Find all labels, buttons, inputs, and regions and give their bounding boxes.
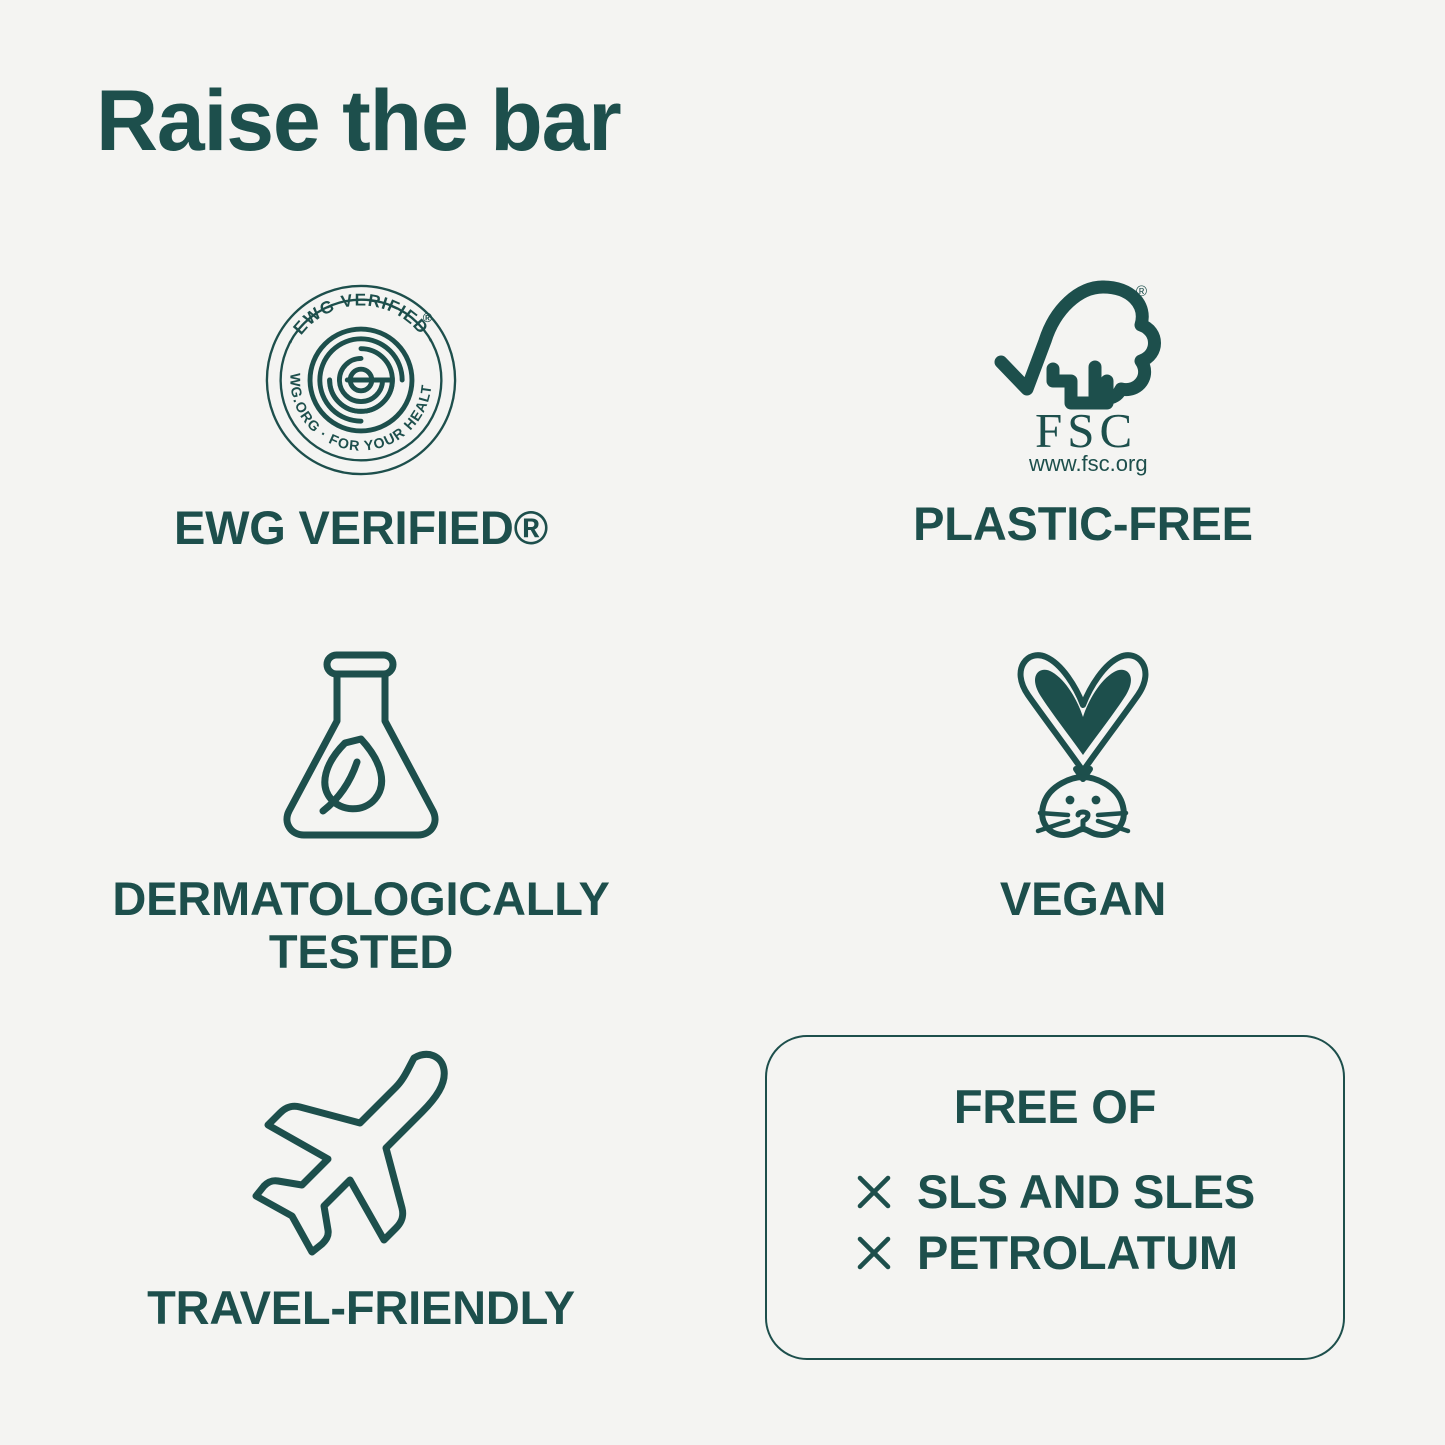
svg-text:®: ® <box>423 310 433 325</box>
flask-with-leaf-icon <box>271 645 451 845</box>
badge-label-travel-friendly: TRAVEL-FRIENDLY <box>147 1282 575 1335</box>
badge-label-dermatologically-tested: DERMATOLOGICALLY TESTED <box>41 873 681 978</box>
cross-icon <box>855 1234 893 1272</box>
free-of-list: SLS AND SLES PETROLATUM <box>855 1168 1255 1276</box>
badge-ewg-verified: · EWG VERIFIED · EWG.ORG · FOR YOUR HEAL… <box>0 250 722 620</box>
badge-plastic-free: ® FSC www.fsc.org PLASTIC-FREE <box>722 250 1444 620</box>
fsc-tree-checkmark-icon: ® FSC www.fsc.org <box>983 268 1183 478</box>
free-of-card: FREE OF SLS AND SLES PETRO <box>765 1035 1345 1360</box>
free-of-title: FREE OF <box>954 1079 1156 1134</box>
free-of-item-label: SLS AND SLES <box>917 1168 1255 1215</box>
ewg-verified-seal-icon: · EWG VERIFIED · EWG.ORG · FOR YOUR HEAL… <box>263 280 459 480</box>
rabbit-heart-ears-icon <box>984 640 1182 845</box>
svg-text:www.fsc.org: www.fsc.org <box>1028 451 1148 476</box>
cross-icon <box>855 1173 893 1211</box>
svg-text:®: ® <box>1136 283 1147 300</box>
infographic-page: Raise the bar · EWG VERIFIED · <box>0 0 1445 1445</box>
page-title: Raise the bar <box>96 78 621 164</box>
list-item: PETROLATUM <box>855 1229 1238 1276</box>
svg-text:FSC: FSC <box>1035 403 1137 458</box>
badge-dermatologically-tested: DERMATOLOGICALLY TESTED <box>0 620 722 1020</box>
badge-label-ewg-verified: EWG VERIFIED® <box>174 502 548 555</box>
badge-travel-friendly: TRAVEL-FRIENDLY <box>0 1020 722 1445</box>
badge-label-vegan: VEGAN <box>1000 873 1166 926</box>
badge-label-plastic-free: PLASTIC-FREE <box>913 498 1253 551</box>
list-item: SLS AND SLES <box>855 1168 1255 1215</box>
badge-vegan: VEGAN <box>722 620 1444 1020</box>
airplane-icon <box>246 1040 476 1260</box>
free-of-item-label: PETROLATUM <box>917 1229 1238 1276</box>
